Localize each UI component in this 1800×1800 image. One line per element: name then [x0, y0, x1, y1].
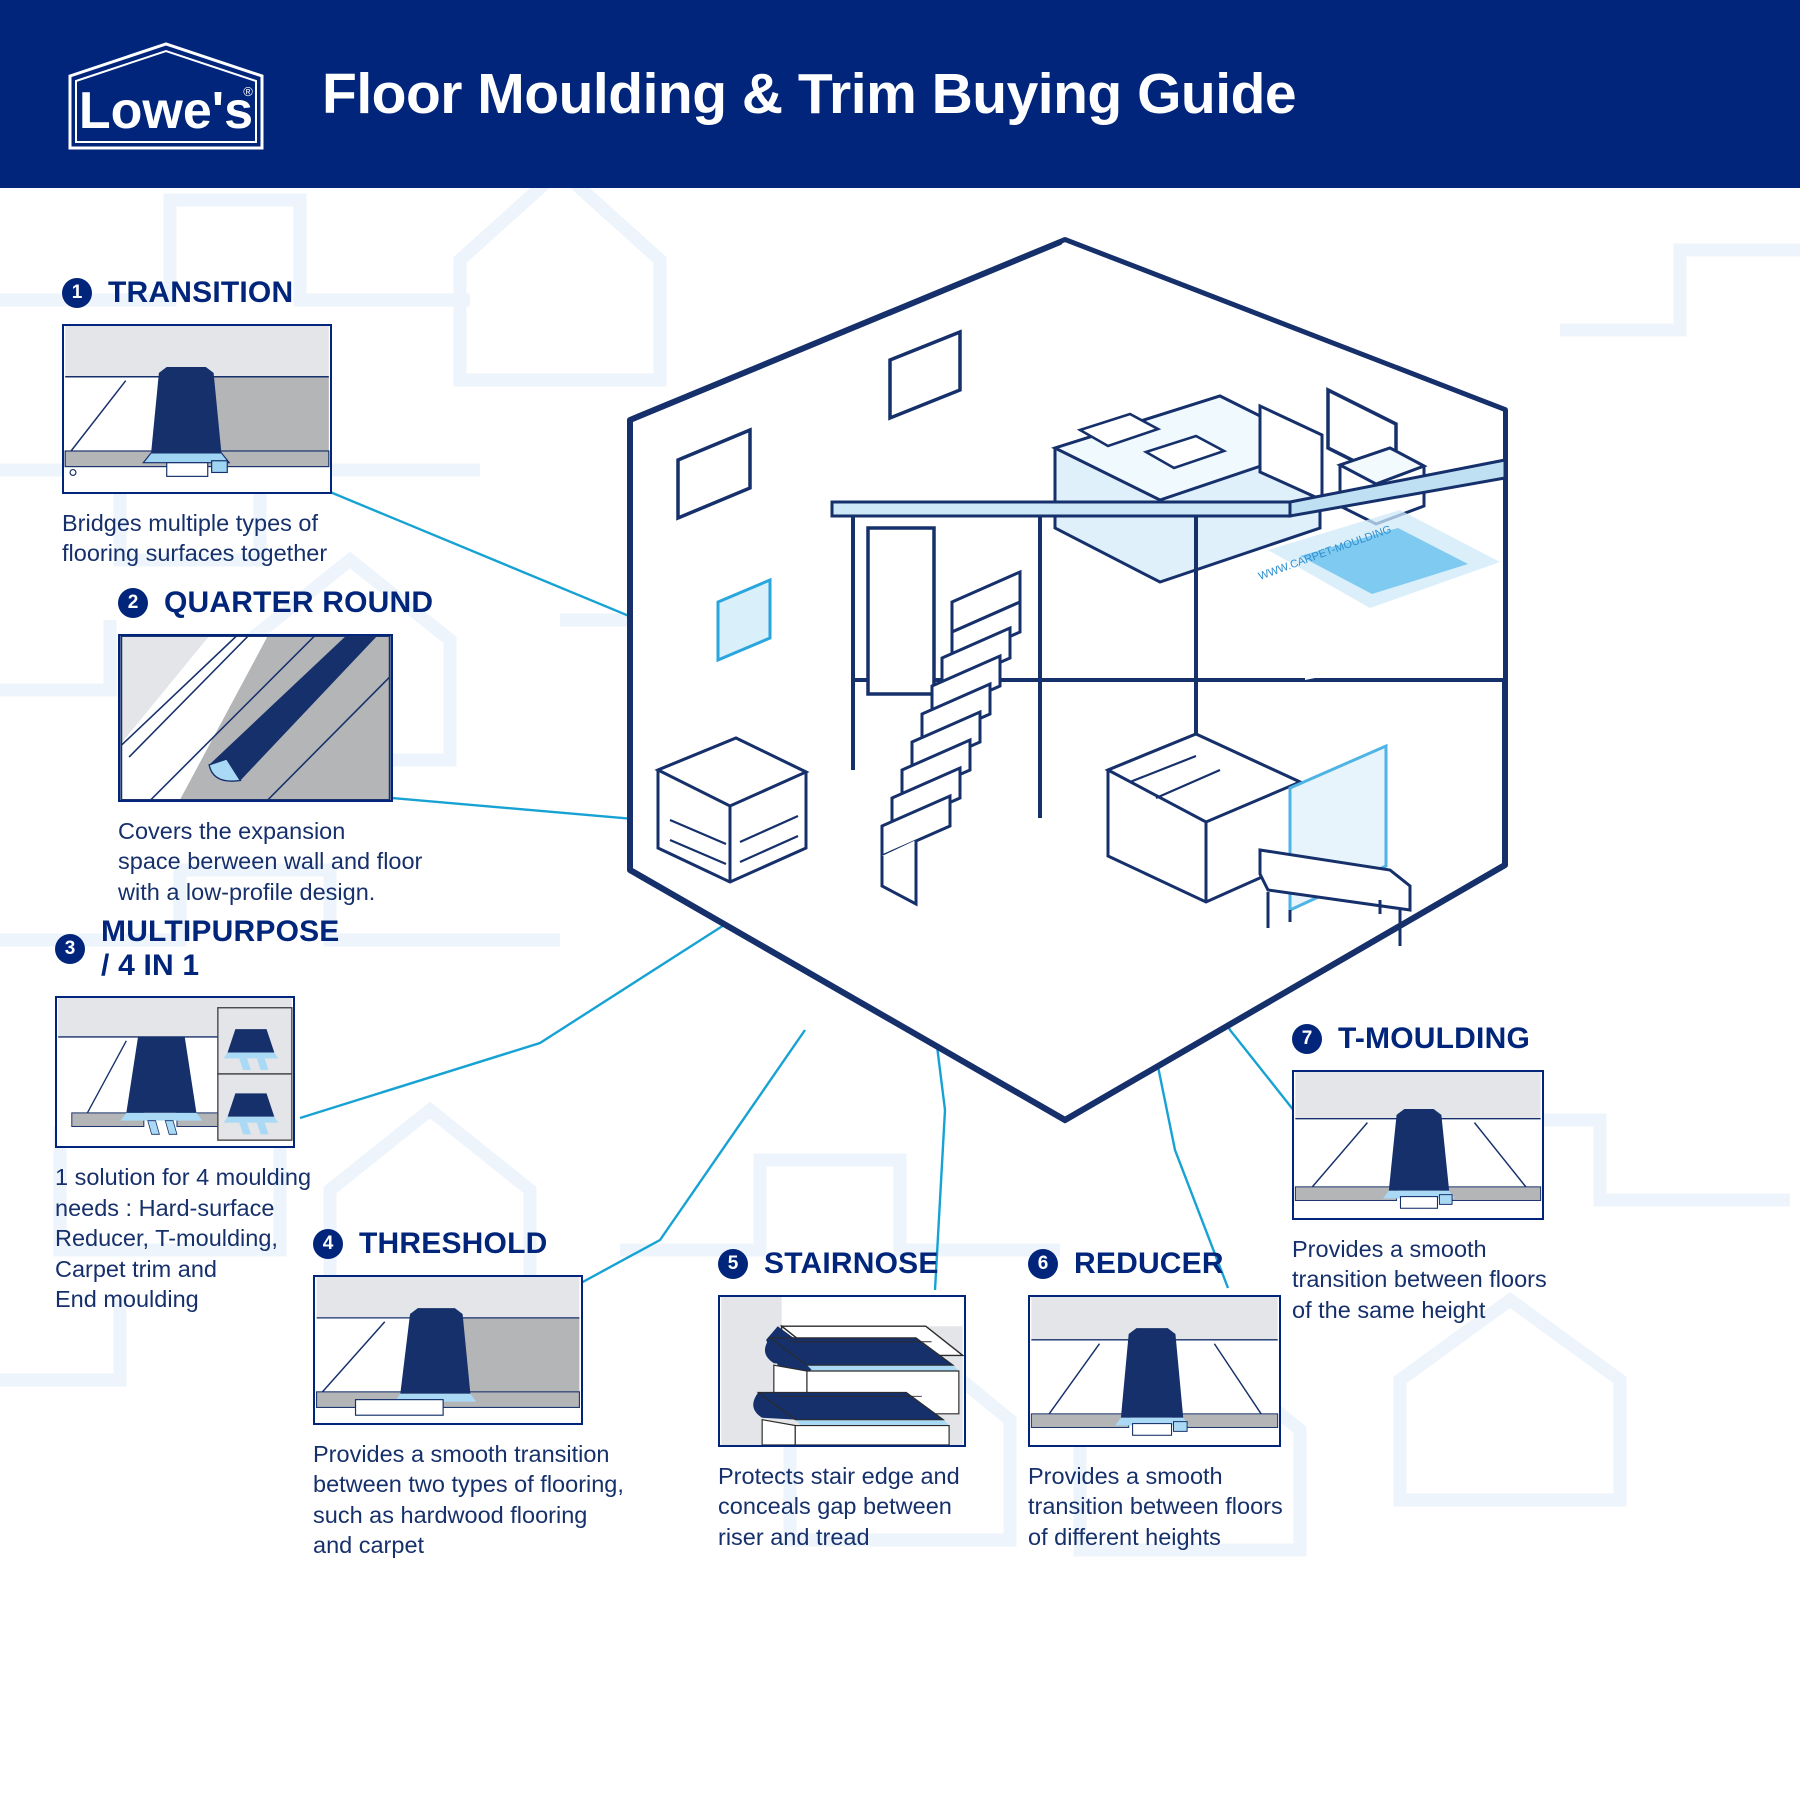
registered-mark: ®: [243, 84, 253, 99]
t-moulding-profile-figure: [1292, 1070, 1544, 1220]
threshold-profile-figure: [313, 1275, 583, 1425]
item-reducer-header: 6 REDUCER: [1028, 1247, 1318, 1281]
multipurpose-profile-figure: [55, 996, 295, 1148]
item-stairnose: 5 STAIRNOSE Protects stair edge and conc…: [718, 1247, 1008, 1552]
item-threshold: 4 THRESHOLD Provides a smooth transition…: [313, 1227, 673, 1561]
transition-profile-figure: [62, 324, 332, 494]
item-number-badge: 5: [718, 1249, 748, 1279]
item-description: Protects stair edge and conceals gap bet…: [718, 1461, 1008, 1553]
item-title: STAIRNOSE: [764, 1247, 939, 1281]
item-transition-header: 1 TRANSITION: [62, 276, 482, 310]
item-t-moulding-header: 7 T-MOULDING: [1292, 1022, 1582, 1056]
item-stairnose-header: 5 STAIRNOSE: [718, 1247, 1008, 1281]
isometric-house-illustration: WWW.CARPET-MOULDING: [600, 210, 1550, 1140]
item-description: Provides a smooth transition between two…: [313, 1439, 673, 1561]
item-number-badge: 2: [118, 588, 148, 618]
item-description: Provides a smooth transition between flo…: [1028, 1461, 1318, 1553]
stairnose-profile-figure: [718, 1295, 966, 1447]
item-number-badge: 3: [55, 934, 85, 964]
lowes-logo-text: Lowe's: [79, 82, 253, 140]
item-multipurpose-header: 3 MULTIPURPOSE / 4 IN 1: [55, 915, 385, 982]
item-title: T-MOULDING: [1338, 1022, 1530, 1056]
item-title: THRESHOLD: [359, 1227, 547, 1261]
item-number-badge: 7: [1292, 1024, 1322, 1054]
item-reducer: 6 REDUCER Provides a smooth transition b…: [1028, 1247, 1318, 1552]
lowes-logo[interactable]: Lowe's ®: [62, 38, 270, 150]
item-title: REDUCER: [1074, 1247, 1224, 1281]
page-title: Floor Moulding & Trim Buying Guide: [322, 61, 1296, 127]
item-title: QUARTER ROUND: [164, 586, 433, 620]
item-description: Covers the expansion space berween wall …: [118, 816, 538, 908]
reducer-profile-figure: [1028, 1295, 1281, 1447]
item-transition: 1 TRANSITION Bridges multiple types of f…: [62, 276, 482, 569]
item-t-moulding: 7 T-MOULDING Provides a smooth transitio…: [1292, 1022, 1582, 1325]
item-quarter-round: 2 QUARTER ROUND Covers the expansion spa…: [118, 586, 538, 907]
item-title: TRANSITION: [108, 276, 293, 310]
item-description: Bridges multiple types of flooring surfa…: [62, 508, 482, 569]
item-number-badge: 6: [1028, 1249, 1058, 1279]
quarter-round-profile-figure: [118, 634, 393, 802]
item-title: MULTIPURPOSE / 4 IN 1: [101, 915, 340, 982]
item-threshold-header: 4 THRESHOLD: [313, 1227, 673, 1261]
page-header: Lowe's ® Floor Moulding & Trim Buying Gu…: [0, 0, 1800, 188]
item-description: Provides a smooth transition between flo…: [1292, 1234, 1582, 1326]
door: [868, 528, 936, 694]
item-quarter-round-header: 2 QUARTER ROUND: [118, 586, 538, 620]
item-number-badge: 1: [62, 278, 92, 308]
item-number-badge: 4: [313, 1229, 343, 1259]
